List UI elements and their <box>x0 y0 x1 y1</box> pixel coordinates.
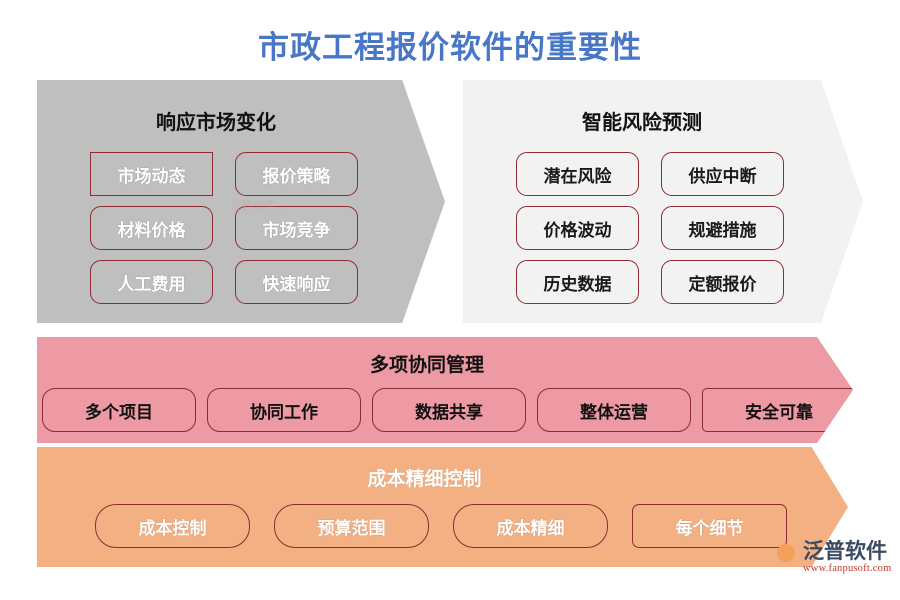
chip-price-fluctuation[interactable]: 价格波动 <box>516 206 639 250</box>
infographic-canvas: 市政工程报价软件的重要性 响应市场变化 市场动态 报价策略 材料价格 市场竞争 … <box>0 0 900 600</box>
chip-data-sharing[interactable]: 数据共享 <box>372 388 526 432</box>
band-chip-row: 成本控制 预算范围 成本精细 每个细节 <box>95 504 787 548</box>
chip-budget-scope[interactable]: 预算范围 <box>274 504 429 548</box>
page-title: 市政工程报价软件的重要性 <box>0 22 900 67</box>
chip-cost-control[interactable]: 成本控制 <box>95 504 250 548</box>
chip-labor-cost[interactable]: 人工费用 <box>90 260 213 304</box>
band-title: 多项协同管理 <box>37 350 817 377</box>
panel-chip-grid: 潜在风险 供应中断 价格波动 规避措施 历史数据 定额报价 <box>516 152 784 304</box>
chip-market-dynamics[interactable]: 市场动态 <box>90 152 213 196</box>
chip-safe-reliable[interactable]: 安全可靠 <box>702 388 856 432</box>
band-fine-cost-control: 成本精细控制 成本控制 预算范围 成本精细 每个细节 <box>37 447 848 567</box>
chip-potential-risk[interactable]: 潜在风险 <box>516 152 639 196</box>
panel-respond-market-change: 响应市场变化 市场动态 报价策略 材料价格 市场竞争 人工费用 快速响应 <box>37 80 445 323</box>
band-chip-row: 多个项目 协同工作 数据共享 整体运营 安全可靠 <box>42 388 856 432</box>
chip-market-competition[interactable]: 市场竞争 <box>235 206 358 250</box>
chip-avoidance-measures[interactable]: 规避措施 <box>661 206 784 250</box>
logo-url: www.fanpusoft.com <box>803 563 891 574</box>
fanpu-logo-icon <box>766 540 798 570</box>
chip-material-price[interactable]: 材料价格 <box>90 206 213 250</box>
chip-historical-data[interactable]: 历史数据 <box>516 260 639 304</box>
chip-supply-interruption[interactable]: 供应中断 <box>661 152 784 196</box>
logo-words: 泛普软件 www.fanpusoft.com <box>803 540 891 574</box>
band-title: 成本精细控制 <box>37 464 812 491</box>
panel-title: 智能风险预测 <box>463 106 821 135</box>
band-multi-project-collaboration: 多项协同管理 多个项目 协同工作 数据共享 整体运营 安全可靠 <box>37 337 853 443</box>
chip-overall-operation[interactable]: 整体运营 <box>537 388 691 432</box>
chip-multiple-projects[interactable]: 多个项目 <box>42 388 196 432</box>
chip-quotation-strategy[interactable]: 报价策略 <box>235 152 358 196</box>
panel-title: 响应市场变化 <box>37 106 395 135</box>
chip-every-detail[interactable]: 每个细节 <box>632 504 787 548</box>
chip-fast-response[interactable]: 快速响应 <box>235 260 358 304</box>
chip-collaborative-work[interactable]: 协同工作 <box>207 388 361 432</box>
panel-smart-risk-forecast: 智能风险预测 潜在风险 供应中断 价格波动 规避措施 历史数据 定额报价 <box>463 80 863 323</box>
panel-chip-grid: 市场动态 报价策略 材料价格 市场竞争 人工费用 快速响应 <box>90 152 358 304</box>
chip-quota-quotation[interactable]: 定额报价 <box>661 260 784 304</box>
chip-cost-refinement[interactable]: 成本精细 <box>453 504 608 548</box>
logo-name: 泛普软件 <box>803 540 891 562</box>
brand-logo: 泛普软件 www.fanpusoft.com <box>766 540 891 574</box>
